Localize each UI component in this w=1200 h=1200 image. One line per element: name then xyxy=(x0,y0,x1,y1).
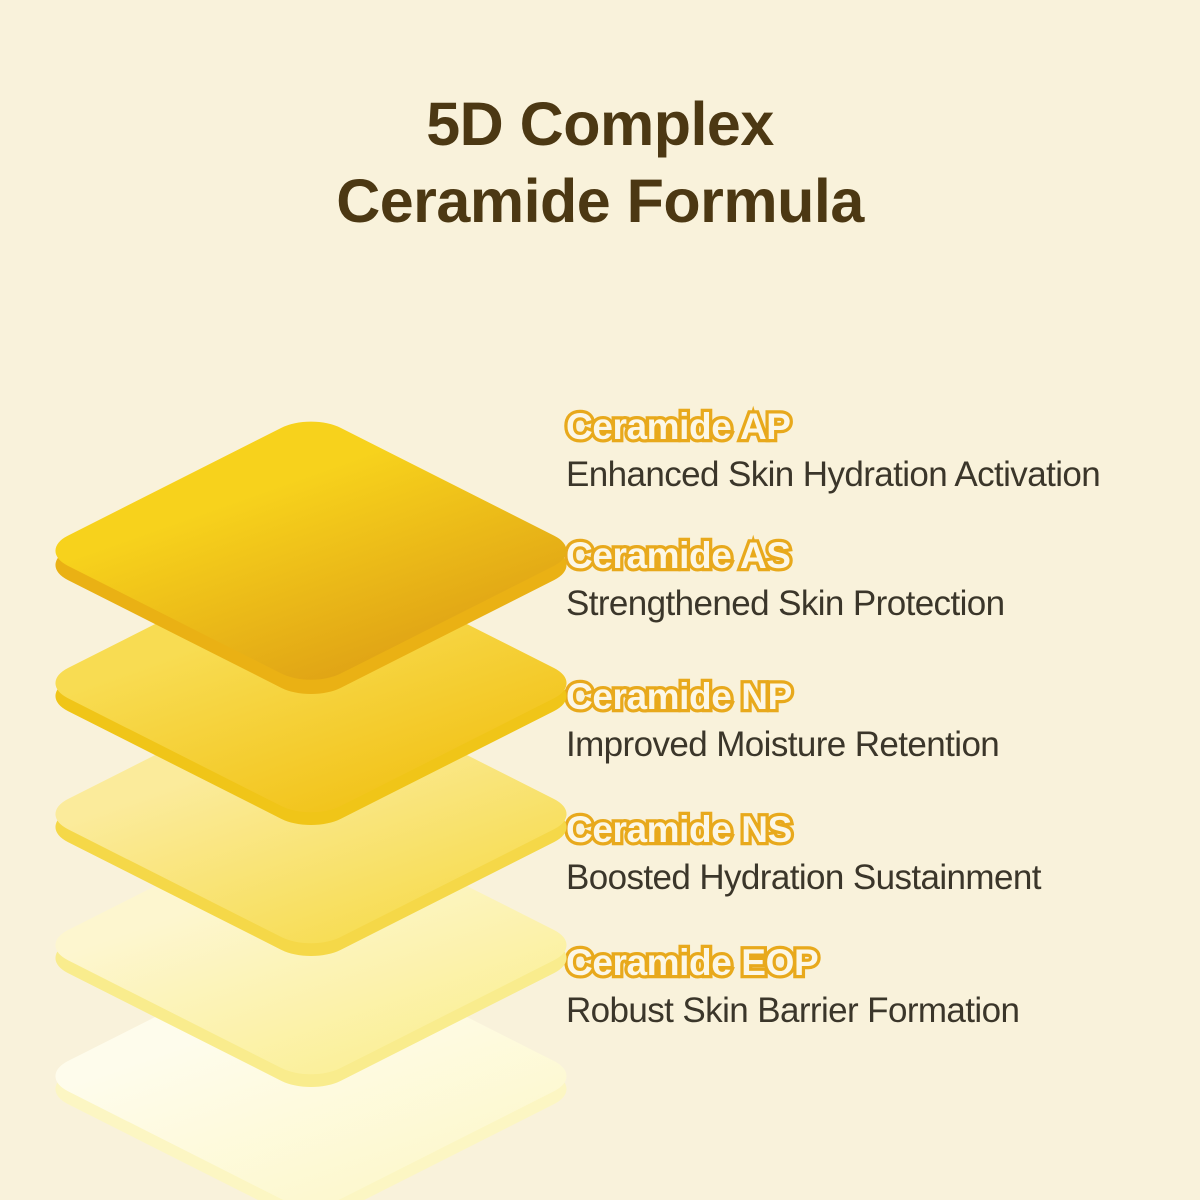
list-item-eop: Ceramide EOP Robust Skin Barrier Formati… xyxy=(566,940,1166,1033)
ceramide-name-eop: Ceramide EOP xyxy=(566,940,1166,985)
list-item-ap: Ceramide AP Enhanced Skin Hydration Acti… xyxy=(566,404,1166,497)
ceramide-desc-ap: Enhanced Skin Hydration Activation xyxy=(566,453,1166,497)
plate-ap xyxy=(38,427,584,703)
plate-top-ap xyxy=(38,413,584,689)
title-line-2: Ceramide Formula xyxy=(0,163,1200,240)
page-title: 5D Complex Ceramide Formula xyxy=(0,86,1200,240)
ceramide-layer-ap xyxy=(118,372,504,758)
infographic-poster: 5D Complex Ceramide Formula xyxy=(0,0,1200,1200)
ceramide-desc-ns: Boosted Hydration Sustainment xyxy=(566,856,1166,900)
list-item-np: Ceramide NP Improved Moisture Retention xyxy=(566,674,1166,767)
ceramide-name-ap: Ceramide AP xyxy=(566,404,1166,449)
list-item-ns: Ceramide NS Boosted Hydration Sustainmen… xyxy=(566,807,1166,900)
ceramide-name-np: Ceramide NP xyxy=(566,674,1166,719)
list-item-as: Ceramide AS Strengthened Skin Protection xyxy=(566,533,1166,626)
ceramide-desc-as: Strengthened Skin Protection xyxy=(566,582,1166,626)
layer-stack-diagram xyxy=(0,372,540,1072)
ceramide-desc-np: Improved Moisture Retention xyxy=(566,723,1166,767)
ceramide-desc-eop: Robust Skin Barrier Formation xyxy=(566,989,1166,1033)
ceramide-name-as: Ceramide AS xyxy=(566,533,1166,578)
title-line-1: 5D Complex xyxy=(0,86,1200,163)
ceramide-name-ns: Ceramide NS xyxy=(566,807,1166,852)
